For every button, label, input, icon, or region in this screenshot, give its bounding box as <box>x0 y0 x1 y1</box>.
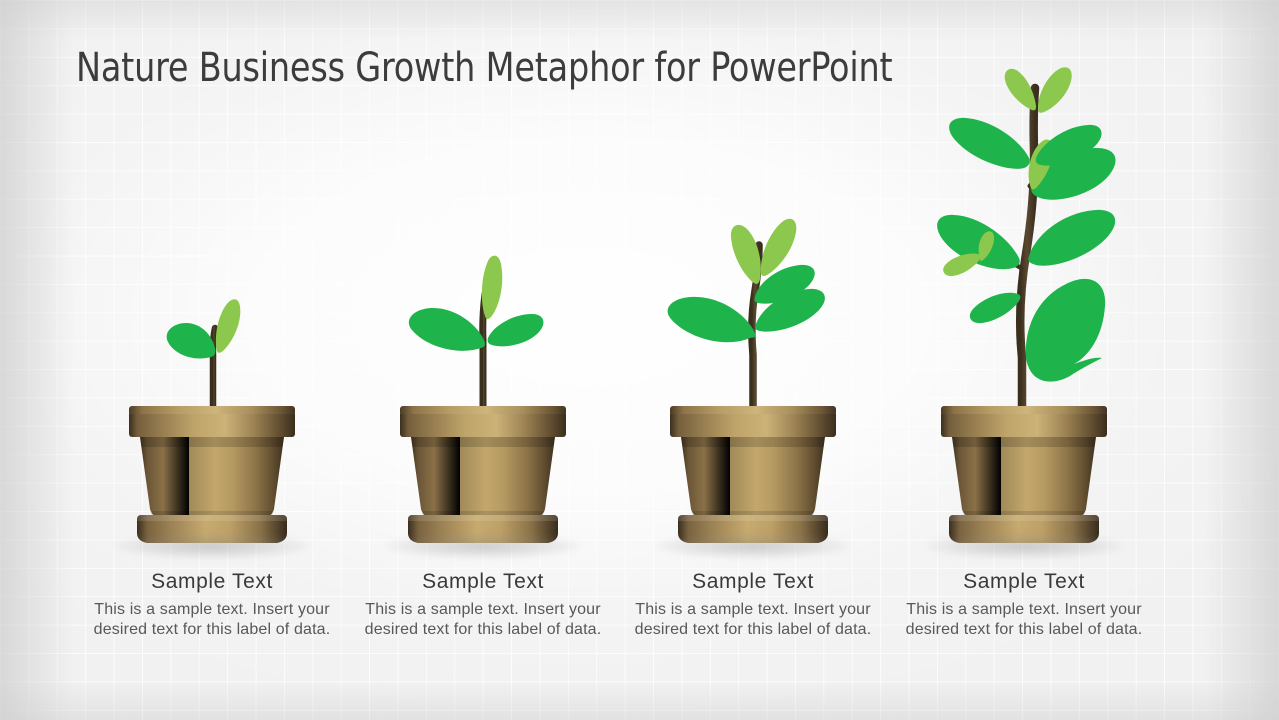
label-body-3: This is a sample text. Insert your desir… <box>603 600 903 639</box>
leaf-dark-1 <box>167 323 216 359</box>
growth-stage-column-1[interactable]: Sample Text This is a sample text. Inser… <box>62 0 362 720</box>
plant-illustration-4 <box>874 58 1174 410</box>
pot-shadow <box>383 533 583 559</box>
label-block-3: Sample Text This is a sample text. Inser… <box>603 568 903 639</box>
growth-stage-column-2[interactable]: Sample Text This is a sample text. Inser… <box>333 0 633 720</box>
leaf-dark-3a <box>668 297 756 342</box>
flower-pot-3 <box>662 403 844 551</box>
leaf-light-4d <box>943 253 981 276</box>
label-title-2: Sample Text <box>333 568 633 596</box>
slide-canvas: Nature Business Growth Metaphor for Powe… <box>0 0 1279 720</box>
plant-illustration-3 <box>603 205 903 410</box>
leaf-light-4b <box>1005 69 1036 111</box>
pot-shadow <box>653 533 853 559</box>
leaf-dark-2b <box>488 314 544 346</box>
label-block-4: Sample Text This is a sample text. Inser… <box>874 568 1174 639</box>
label-body-2: This is a sample text. Insert your desir… <box>333 600 633 639</box>
leaf-dark-4d <box>970 293 1021 323</box>
leaf-dark-2a <box>409 308 485 351</box>
pot-shadow <box>112 533 312 559</box>
leaf-dark-4a <box>1026 279 1105 382</box>
leaf-light-1 <box>216 299 240 353</box>
leaf-dark-4b <box>1028 210 1115 266</box>
label-body-4: This is a sample text. Insert your desir… <box>874 600 1174 639</box>
label-title-3: Sample Text <box>603 568 903 596</box>
label-block-1: Sample Text This is a sample text. Inser… <box>62 568 362 639</box>
label-body-1: This is a sample text. Insert your desir… <box>62 600 362 639</box>
flower-pot-2 <box>392 403 574 551</box>
growth-stage-column-3[interactable]: Sample Text This is a sample text. Inser… <box>603 0 903 720</box>
label-block-2: Sample Text This is a sample text. Inser… <box>333 568 633 639</box>
leaf-dark-4f <box>949 118 1030 169</box>
leaf-light-3a <box>731 225 761 284</box>
leaf-light-4c <box>1038 67 1072 113</box>
flower-pot-1 <box>121 403 303 551</box>
plant-illustration-1 <box>62 280 362 410</box>
pot-shadow <box>924 533 1124 559</box>
label-title-1: Sample Text <box>62 568 362 596</box>
label-title-4: Sample Text <box>874 568 1174 596</box>
plant-illustration-2 <box>333 250 633 410</box>
leaf-light-2 <box>482 256 502 319</box>
growth-stage-column-4[interactable]: Sample Text This is a sample text. Inser… <box>874 0 1174 720</box>
flower-pot-4 <box>933 403 1115 551</box>
